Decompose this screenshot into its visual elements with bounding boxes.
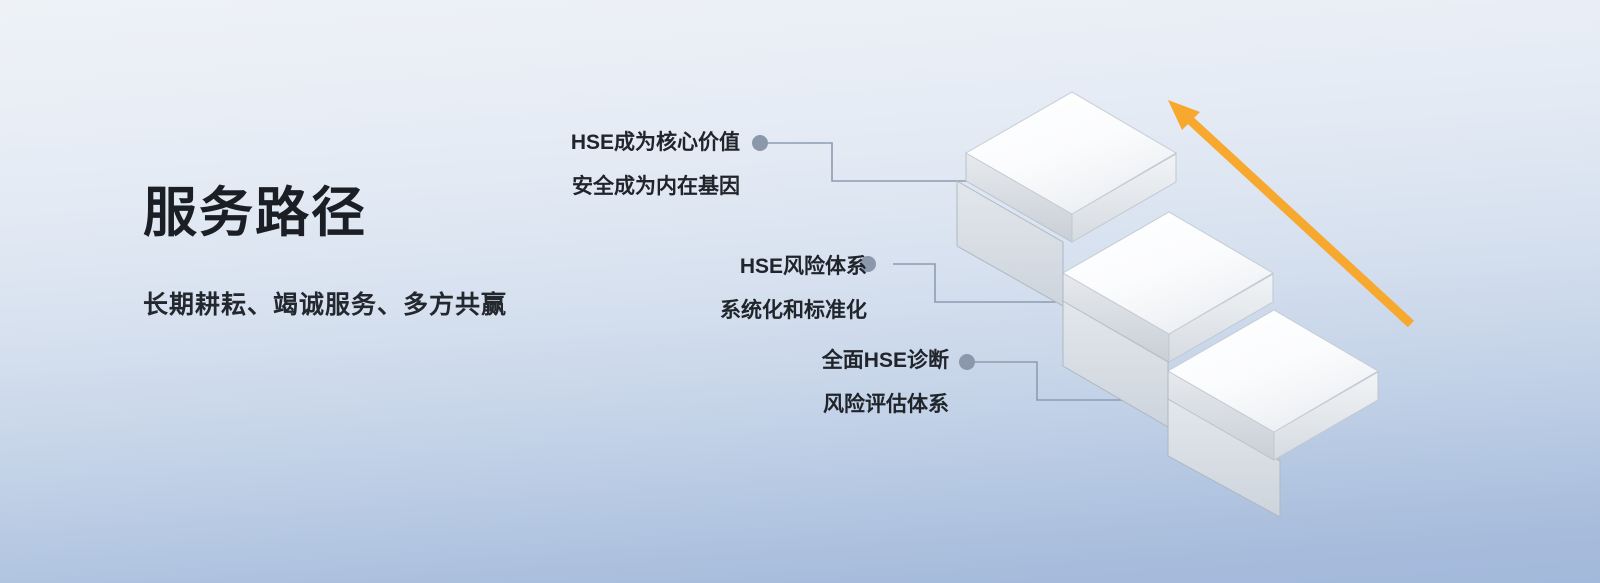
callout-01-line2: 风险评估体系 xyxy=(569,394,949,415)
step-block-01[interactable]: 01 xyxy=(1168,310,1600,517)
callout-step-03: HSE成为核心价值 安全成为内在基因 xyxy=(360,132,740,197)
callout-01-line1: 全面HSE诊断 xyxy=(822,349,949,372)
callout-03-line2: 安全成为内在基因 xyxy=(360,176,740,197)
connector-dot-03 xyxy=(752,135,768,151)
callout-02-line1: HSE风险体系 xyxy=(740,255,867,278)
callout-step-02: HSE风险体系 系统化和标准化 xyxy=(487,256,867,321)
slide-canvas: 服务路径 长期耕耘、竭诚服务、多方共赢 xyxy=(0,0,1600,583)
connector-dot-01 xyxy=(959,354,975,370)
callout-03-line1: HSE成为核心价值 xyxy=(571,131,740,154)
callout-step-01: 全面HSE诊断 风险评估体系 xyxy=(569,350,949,415)
callout-02-line2: 系统化和标准化 xyxy=(487,300,867,321)
connector-line-03 xyxy=(752,135,988,181)
